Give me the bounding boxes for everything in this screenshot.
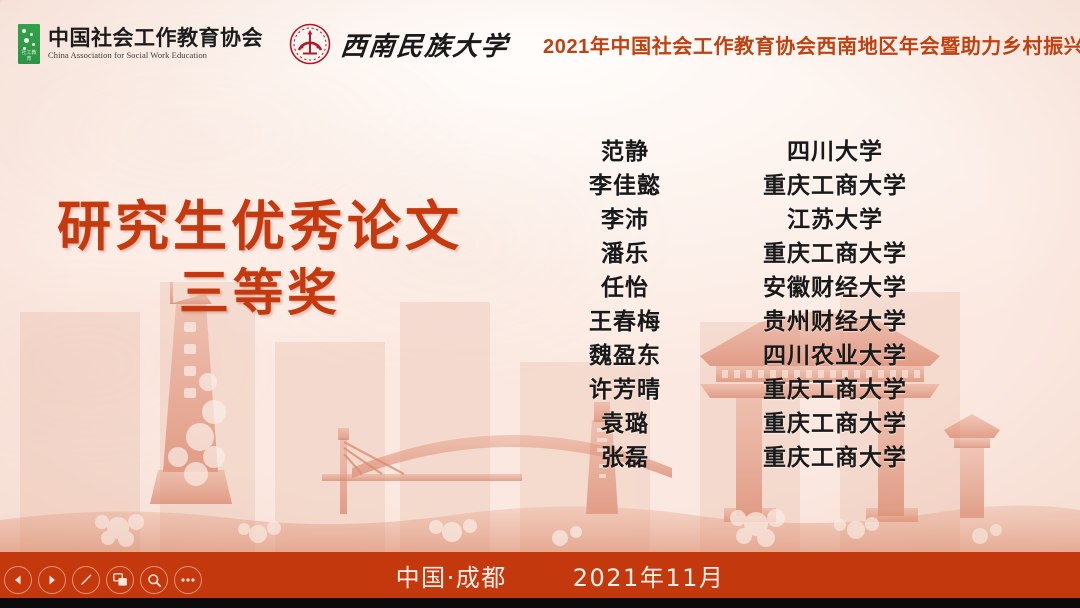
winner-row: 袁璐重庆工商大学 bbox=[540, 404, 1000, 438]
conference-title: 2021年中国社会工作教育协会西南地区年会暨助力乡村振兴社会工作研讨会 bbox=[543, 30, 1080, 59]
winner-name: 李沛 bbox=[540, 200, 710, 234]
winner-row: 任怡安徽财经大学 bbox=[540, 268, 1000, 302]
winner-school: 安徽财经大学 bbox=[710, 268, 960, 302]
winner-school: 江苏大学 bbox=[710, 200, 960, 234]
winner-school: 重庆工商大学 bbox=[710, 234, 960, 268]
winner-name: 张磊 bbox=[540, 438, 710, 472]
winner-school: 重庆工商大学 bbox=[710, 370, 960, 404]
association-logo: 社工教育 中国社会工作教育协会 China Association for So… bbox=[18, 24, 263, 64]
association-name-en: China Association for Social Work Educat… bbox=[48, 50, 263, 61]
caswe-mark-text: 社工教育 bbox=[20, 51, 38, 62]
more-options-button[interactable] bbox=[174, 566, 202, 594]
winner-school: 四川大学 bbox=[710, 132, 960, 166]
award-title-line2: 三等奖 bbox=[0, 262, 520, 324]
pen-icon bbox=[78, 572, 94, 588]
winner-school: 重庆工商大学 bbox=[710, 404, 960, 438]
triangle-left-icon bbox=[12, 574, 24, 586]
winner-name: 魏盈东 bbox=[540, 336, 710, 370]
slide-header: 社工教育 中国社会工作教育协会 China Association for So… bbox=[0, 0, 1080, 88]
winner-name: 王春梅 bbox=[540, 302, 710, 336]
next-slide-button[interactable] bbox=[38, 566, 66, 594]
zoom-button[interactable] bbox=[140, 566, 168, 594]
winner-row: 张磊重庆工商大学 bbox=[540, 438, 1000, 472]
winner-name: 任怡 bbox=[540, 268, 710, 302]
ellipsis-icon bbox=[180, 577, 196, 583]
caswe-logo-icon: 社工教育 bbox=[18, 24, 40, 64]
winner-row: 王春梅贵州财经大学 bbox=[540, 302, 1000, 336]
bottom-letterbox-strip bbox=[0, 598, 1080, 608]
university-name: 西南民族大学 bbox=[339, 26, 511, 63]
award-title-block: 研究生优秀论文 三等奖 bbox=[0, 196, 520, 324]
slide-overview-button[interactable] bbox=[106, 566, 134, 594]
winner-name: 潘乐 bbox=[540, 234, 710, 268]
winner-school: 重庆工商大学 bbox=[710, 166, 960, 200]
winners-table: 范静四川大学李佳懿重庆工商大学李沛江苏大学潘乐重庆工商大学任怡安徽财经大学王春梅… bbox=[540, 132, 1000, 472]
winner-row: 范静四川大学 bbox=[540, 132, 1000, 166]
winner-school: 四川农业大学 bbox=[710, 336, 960, 370]
footer-date: 2021年11月 bbox=[573, 558, 725, 593]
winner-name: 李佳懿 bbox=[540, 166, 710, 200]
magnifier-icon bbox=[147, 573, 162, 588]
previous-slide-button[interactable] bbox=[4, 566, 32, 594]
presentation-slide: 社工教育 中国社会工作教育协会 China Association for So… bbox=[0, 0, 1080, 608]
winner-row: 李沛江苏大学 bbox=[540, 200, 1000, 234]
winner-row: 许芳晴重庆工商大学 bbox=[540, 370, 1000, 404]
presentation-toolbar[interactable] bbox=[4, 566, 202, 594]
winner-school: 贵州财经大学 bbox=[710, 302, 960, 336]
winner-name: 范静 bbox=[540, 132, 710, 166]
footer-location: 中国·成都 bbox=[396, 558, 507, 593]
winner-row: 魏盈东四川农业大学 bbox=[540, 336, 1000, 370]
university-logo: 西南民族大学 bbox=[289, 23, 509, 65]
association-name-cn: 中国社会工作教育协会 bbox=[48, 27, 263, 50]
triangle-right-icon bbox=[46, 574, 58, 586]
winner-row: 潘乐重庆工商大学 bbox=[540, 234, 1000, 268]
winner-name: 袁璐 bbox=[540, 404, 710, 438]
winner-school: 重庆工商大学 bbox=[710, 438, 960, 472]
slides-grid-icon bbox=[113, 573, 128, 587]
swun-seal-icon bbox=[289, 23, 331, 65]
winner-name: 许芳晴 bbox=[540, 370, 710, 404]
pen-tool-button[interactable] bbox=[72, 566, 100, 594]
award-title-line1: 研究生优秀论文 bbox=[0, 196, 520, 258]
winner-row: 李佳懿重庆工商大学 bbox=[540, 166, 1000, 200]
